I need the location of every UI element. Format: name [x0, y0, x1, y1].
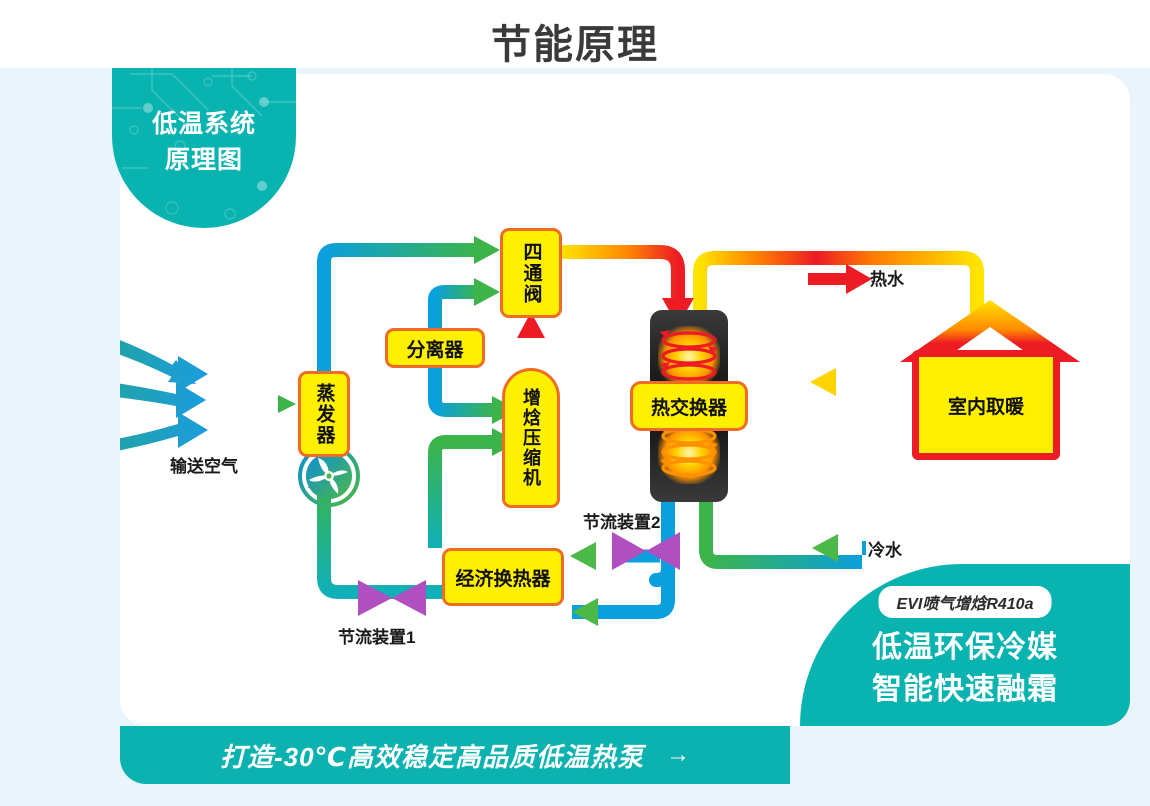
node-economizer[interactable]: 经济换热器 [442, 548, 564, 606]
promo-callout: EVI喷气增焓R410a 低温环保冷媒 智能快速融霜 [800, 564, 1130, 726]
promo-line-2: 智能快速融霜 [800, 664, 1130, 708]
label-air-supply: 输送空气 [170, 452, 238, 477]
node-evaporator[interactable]: 蒸发器 [298, 371, 350, 457]
page-title: 节能原理 [0, 12, 1150, 70]
node-four-way-valve[interactable]: 四通阀 [500, 228, 562, 318]
section-badge-line-2: 原理图 [112, 142, 296, 178]
air-stream-arrows [120, 312, 208, 466]
bottom-banner[interactable]: 打造-30℃高效稳定高品质低温热泵 → [120, 726, 790, 784]
label-throttle-2: 节流装置2 [583, 508, 660, 533]
node-indoor-heating[interactable]: 室内取暖 [912, 350, 1060, 460]
node-compressor[interactable]: 增焓压缩机 [502, 368, 560, 508]
node-heat-exchanger[interactable]: 热交换器 [630, 381, 748, 431]
node-separator[interactable]: 分离器 [385, 328, 485, 368]
page-root: 节能原理 [0, 0, 1150, 806]
section-badge-text: 低温系统 原理图 [112, 106, 296, 179]
label-hot-water: 热水 [870, 265, 904, 290]
label-cold-water: 冷水 [868, 536, 902, 561]
section-badge-line-1: 低温系统 [112, 106, 296, 142]
arrow-right-icon: → [666, 741, 690, 769]
section-badge: 低温系统 原理图 [112, 68, 296, 228]
hot-water-arrow-glyph [808, 264, 872, 294]
label-throttle-1: 节流装置1 [338, 623, 415, 648]
promo-line-1: 低温环保冷媒 [800, 622, 1130, 666]
throttle-valve-1-icon [358, 580, 426, 616]
bottom-banner-text: 打造-30℃高效稳定高品质低温热泵 [220, 737, 644, 774]
promo-pill-badge: EVI喷气增焓R410a [879, 586, 1052, 618]
throttle-valve-2-icon [612, 532, 680, 570]
